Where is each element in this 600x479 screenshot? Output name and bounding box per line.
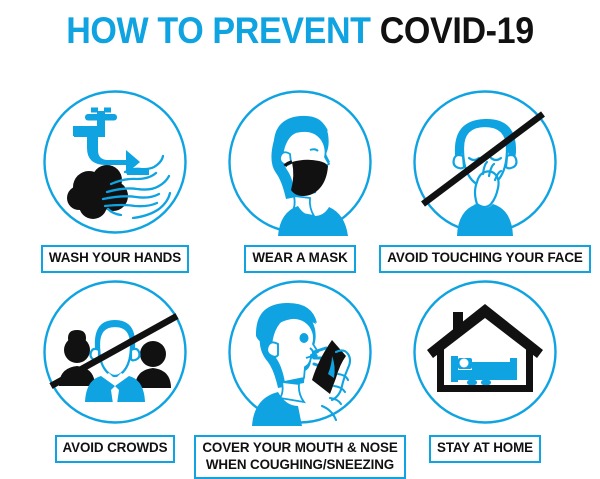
card-label: STAY AT HOME: [429, 435, 541, 463]
prevention-card-wear-mask: WEAR A MASK: [207, 88, 393, 273]
card-label-line1: STAY AT HOME: [437, 440, 533, 455]
card-label-line2: WHEN COUGHING/SNEEZING: [202, 457, 397, 474]
card-label: AVOID TOUCHING YOUR FACE: [379, 245, 591, 273]
title-subject: COVID-19: [380, 10, 534, 51]
avoid-touching-face-icon: [411, 88, 559, 236]
wash-hands-icon: [41, 88, 189, 236]
card-label: AVOID CROWDS: [55, 435, 176, 463]
card-label: WEAR A MASK: [244, 245, 355, 273]
card-label: COVER YOUR MOUTH & NOSE WHEN COUGHING/SN…: [194, 435, 405, 479]
prevention-card-stay-at-home: STAY AT HOME: [392, 278, 578, 463]
wear-mask-icon: [226, 88, 374, 236]
card-label-line1: WEAR A MASK: [252, 250, 347, 265]
avoid-crowds-icon: [41, 278, 189, 426]
stay-at-home-icon: [411, 278, 559, 426]
card-label-line1: WASH YOUR HANDS: [49, 250, 181, 265]
prevention-card-avoid-crowds: AVOID CROWDS: [22, 278, 208, 463]
card-label-line1: AVOID CROWDS: [63, 440, 168, 455]
prevention-card-cover-cough: COVER YOUR MOUTH & NOSE WHEN COUGHING/SN…: [207, 278, 393, 479]
card-label: WASH YOUR HANDS: [41, 245, 189, 273]
prevention-card-wash-hands: WASH YOUR HANDS: [22, 88, 208, 273]
card-label-line1: AVOID TOUCHING YOUR FACE: [387, 250, 583, 265]
title-highlight: HOW TO PREVENT: [66, 10, 370, 51]
prevention-card-avoid-touching-face: AVOID TOUCHING YOUR FACE: [392, 88, 578, 273]
page-title: HOW TO PREVENT COVID-19: [24, 8, 576, 54]
card-label-line1: COVER YOUR MOUTH & NOSE: [202, 440, 397, 455]
cover-cough-icon: [226, 278, 374, 426]
